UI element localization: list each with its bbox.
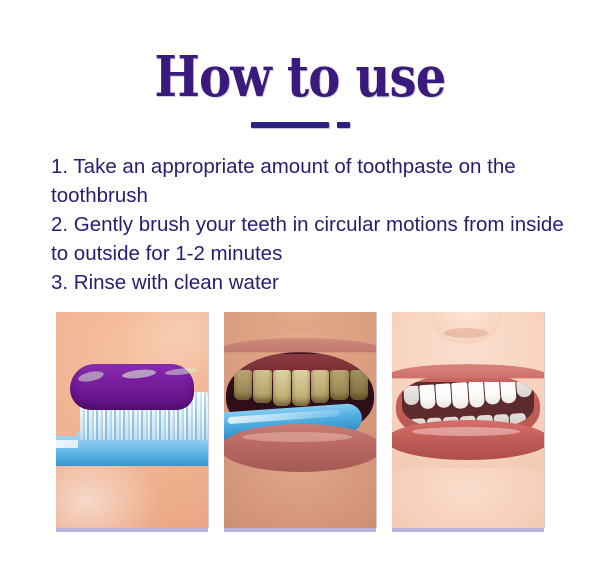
- photo-1-canvas: [56, 312, 208, 528]
- stained-teeth-row: [234, 370, 368, 406]
- photo-stained-teeth-being-brushed: [224, 312, 376, 528]
- divider-dash-icon: [337, 122, 350, 128]
- tooth: [253, 370, 271, 403]
- tooth: [468, 382, 485, 408]
- how-to-use-panel: How to use 1. Take an appropriate amount…: [0, 0, 600, 588]
- purple-toothpaste-shape: [70, 364, 194, 410]
- step-item-2: 2. Gently brush your teeth in circular m…: [51, 210, 571, 268]
- lower-lip-shape: [224, 424, 376, 472]
- instruction-steps: 1. Take an appropriate amount of toothpa…: [51, 152, 571, 297]
- title-divider: [0, 122, 600, 128]
- tooth: [484, 382, 501, 405]
- tooth: [311, 370, 329, 403]
- chin-shape: [392, 468, 544, 528]
- tooth: [350, 370, 368, 400]
- tooth: [419, 384, 436, 409]
- page-title: How to use: [42, 48, 558, 106]
- photo-2-canvas: [224, 312, 376, 528]
- title-block: How to use: [0, 48, 600, 106]
- tooth: [435, 383, 452, 408]
- tooth: [292, 370, 310, 406]
- tooth: [403, 385, 419, 405]
- instruction-image-row: [56, 312, 546, 534]
- step-item-1: 1. Take an appropriate amount of toothpa…: [51, 152, 571, 210]
- photo-white-smile-result: [392, 312, 544, 528]
- photo-toothbrush-with-purple-toothpaste: [56, 312, 208, 528]
- tooth: [330, 370, 348, 400]
- tooth: [516, 382, 532, 398]
- divider-bar-icon: [251, 122, 329, 128]
- tooth: [273, 370, 291, 406]
- lower-lip-shape: [392, 420, 544, 460]
- photo-3-canvas: [392, 312, 544, 528]
- tooth: [452, 382, 469, 409]
- upper-teeth-row: [403, 382, 533, 412]
- tooth: [234, 370, 252, 400]
- tooth: [500, 382, 517, 404]
- step-item-3: 3. Rinse with clean water: [51, 268, 571, 297]
